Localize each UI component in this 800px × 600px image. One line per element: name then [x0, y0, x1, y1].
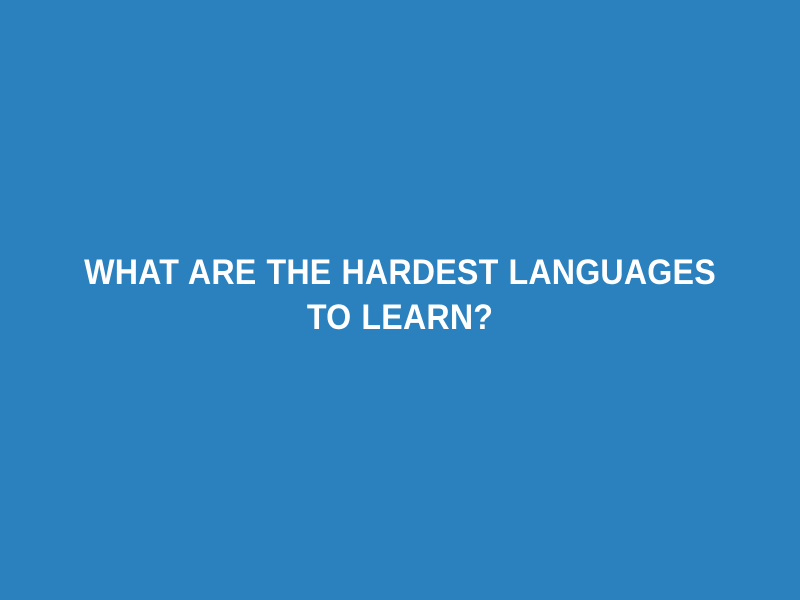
headline-block: What are the hardest languages to learn?	[0, 250, 800, 340]
page-title: What are the hardest languages to learn?	[69, 250, 731, 340]
hero-banner: What are the hardest languages to learn?	[0, 0, 800, 600]
